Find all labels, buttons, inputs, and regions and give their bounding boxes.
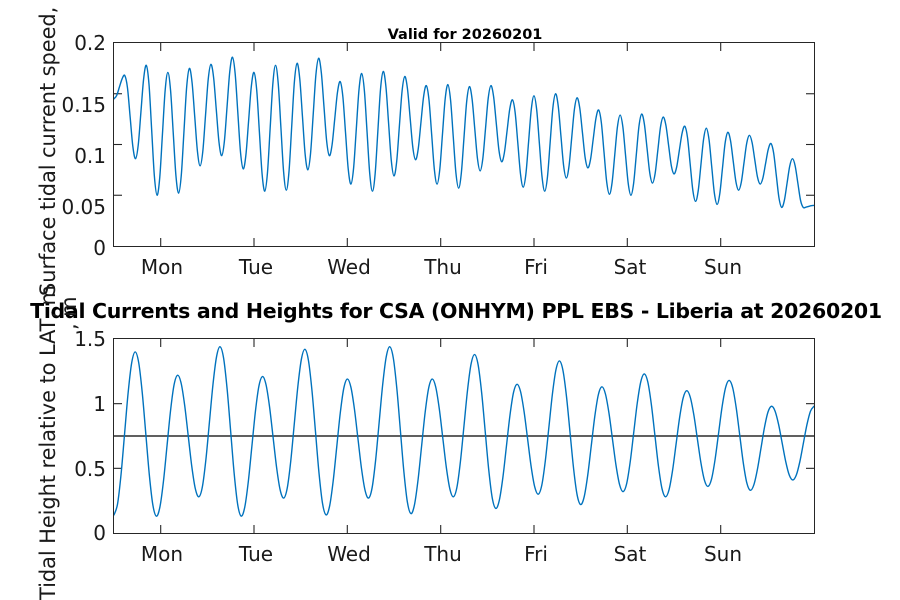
ytick-top-0.05: 0.05	[0, 195, 106, 219]
xtick-top-wed: Wed	[302, 255, 396, 279]
ytick-top-0.2: 0.2	[0, 31, 106, 55]
xtick-top-mon: Mon	[115, 255, 209, 279]
ytick-top-0: 0	[0, 236, 106, 260]
xtick-bot-sat: Sat	[583, 542, 677, 566]
xtick-bot-wed: Wed	[302, 542, 396, 566]
xtick-bot-mon: Mon	[115, 542, 209, 566]
ytick-bot-0: 0	[0, 521, 106, 545]
xtick-bot-thu: Thu	[396, 542, 490, 566]
page-title-text: Tidal Currents and Heights for CSA (ONHY…	[30, 299, 882, 323]
xtick-top-sun: Sun	[676, 255, 770, 279]
ytick-bot-1: 1	[0, 392, 106, 416]
ytick-top-0.1: 0.1	[0, 144, 106, 168]
tidal-height-line-svg	[114, 339, 814, 533]
ytick-top-0.15: 0.15	[0, 93, 106, 117]
plot-area-tidal-height	[113, 338, 815, 534]
current-speed-data-line	[114, 57, 814, 208]
xtick-bot-sun: Sun	[676, 542, 770, 566]
ytick-bot-1.5: 1.5	[0, 327, 106, 351]
figure-canvas: Surface tidal current speed, kn Valid fo…	[0, 0, 900, 600]
tidal-height-data-line	[114, 347, 814, 516]
xtick-top-thu: Thu	[396, 255, 490, 279]
xtick-bot-fri: Fri	[489, 542, 583, 566]
xtick-top-fri: Fri	[489, 255, 583, 279]
current-speed-line-svg	[114, 43, 814, 246]
xtick-top-tue: Tue	[209, 255, 303, 279]
page-title: Tidal Currents and Heights for CSA (ONHY…	[0, 299, 900, 323]
subtitle-valid-for: Valid for 20260201	[115, 27, 815, 43]
plot-area-current-speed	[113, 42, 815, 247]
xtick-top-sat: Sat	[583, 255, 677, 279]
xtick-bot-tue: Tue	[209, 542, 303, 566]
y-axis-label-tidal-height-units: , m	[57, 296, 81, 330]
ytick-bot-0.5: 0.5	[0, 457, 106, 481]
